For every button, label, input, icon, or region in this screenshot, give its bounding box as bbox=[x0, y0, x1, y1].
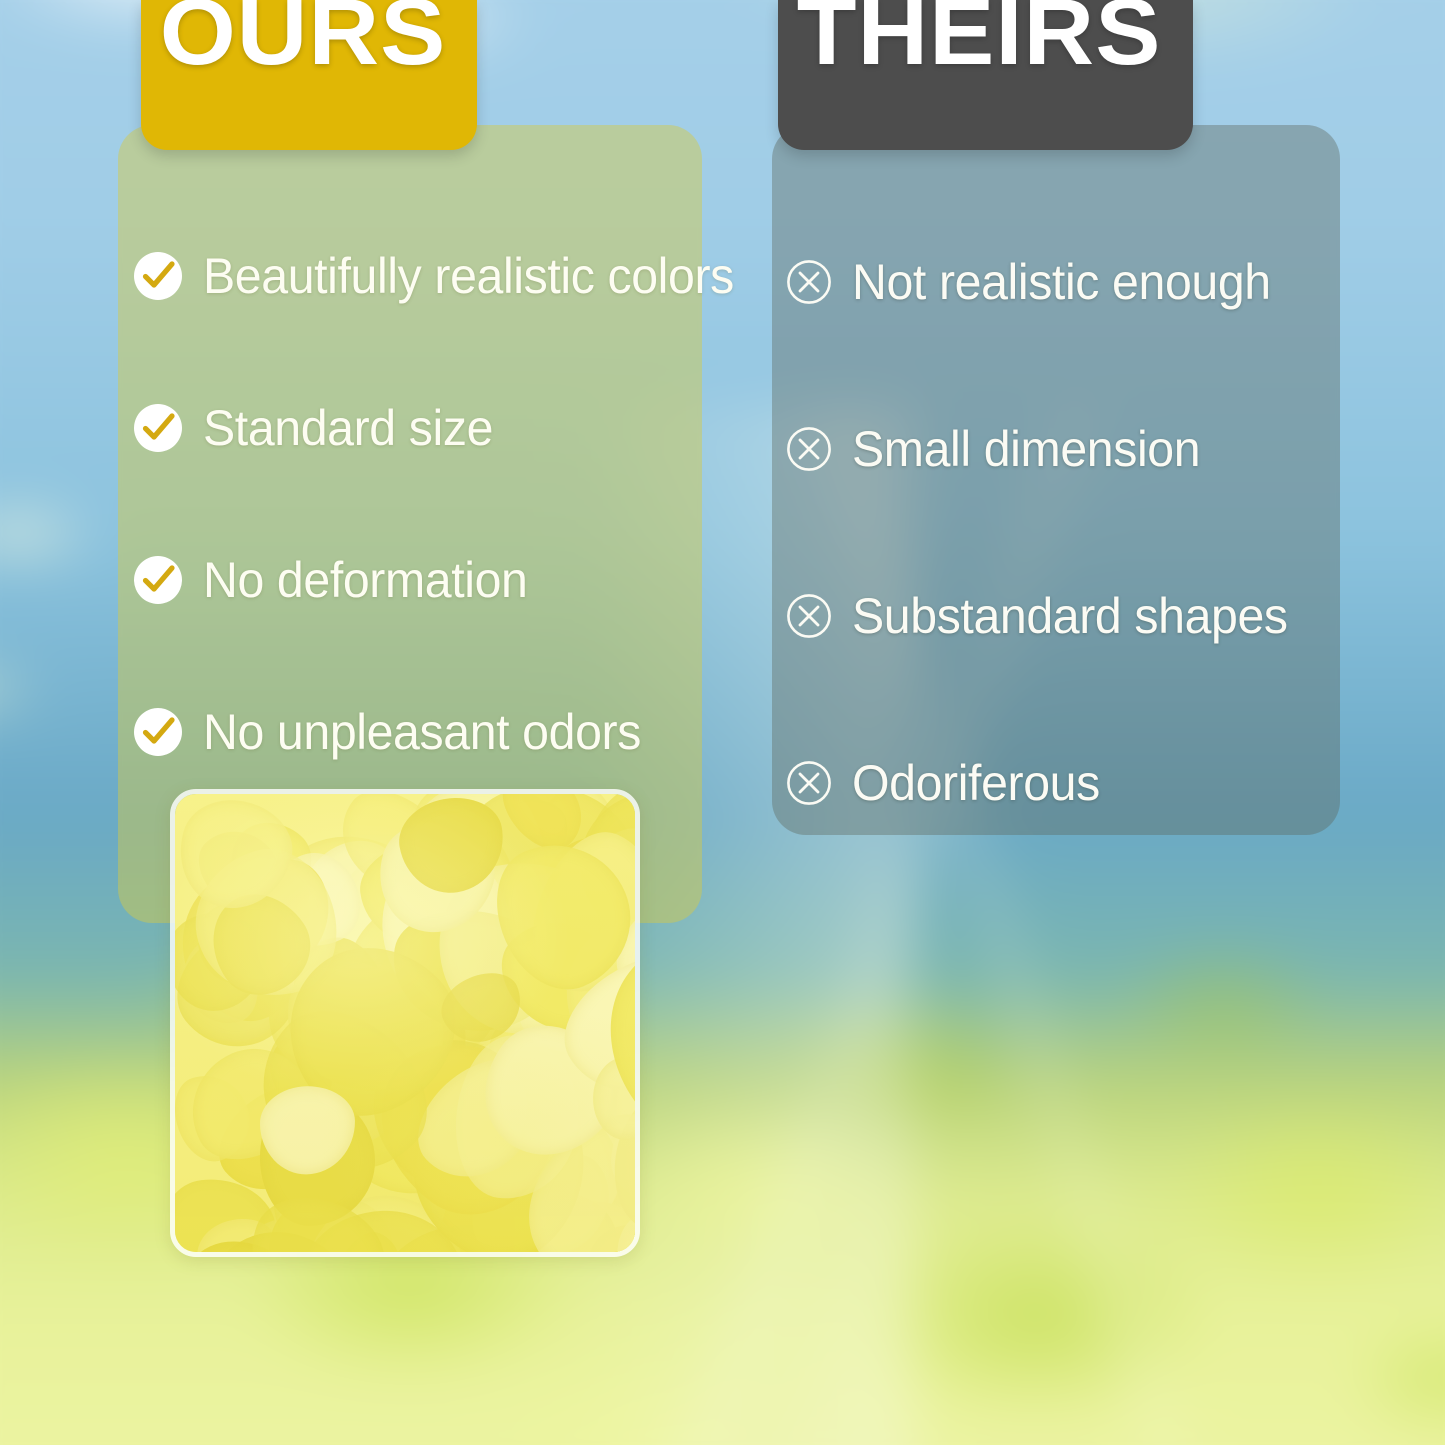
list-item: Odoriferous bbox=[786, 699, 1356, 866]
product-photo-inset bbox=[170, 789, 640, 1257]
list-item: Small dimension bbox=[786, 365, 1356, 532]
theirs-header-tab: THEIRS bbox=[778, 0, 1193, 150]
check-circle-icon bbox=[133, 403, 183, 453]
list-item: No unpleasant odors bbox=[133, 656, 773, 808]
x-circle-outline-icon bbox=[786, 426, 832, 472]
list-item-label: No deformation bbox=[203, 553, 527, 607]
list-item-label: Not realistic enough bbox=[852, 255, 1271, 309]
check-circle-icon bbox=[133, 707, 183, 757]
list-item-label: No unpleasant odors bbox=[203, 705, 641, 759]
theirs-header-label: THEIRS bbox=[778, 0, 1180, 76]
ours-header-tab: OURS bbox=[141, 0, 477, 150]
list-item-label: Odoriferous bbox=[852, 756, 1100, 810]
list-item: Not realistic enough bbox=[786, 198, 1356, 365]
list-item-label: Standard size bbox=[203, 401, 493, 455]
list-item-label: Substandard shapes bbox=[852, 589, 1288, 643]
check-circle-icon bbox=[133, 555, 183, 605]
ours-feature-list: Beautifully realistic colors Standard si… bbox=[133, 200, 773, 808]
list-item: Beautifully realistic colors bbox=[133, 200, 773, 352]
theirs-feature-list: Not realistic enough Small dimension Sub… bbox=[786, 198, 1356, 866]
check-circle-icon bbox=[133, 251, 183, 301]
list-item: Substandard shapes bbox=[786, 532, 1356, 699]
x-circle-outline-icon bbox=[786, 259, 832, 305]
list-item-label: Beautifully realistic colors bbox=[203, 249, 734, 303]
list-item: No deformation bbox=[133, 504, 773, 656]
x-circle-outline-icon bbox=[786, 593, 832, 639]
petal-sheen-overlay bbox=[175, 794, 635, 1252]
ours-header-label: OURS bbox=[141, 0, 465, 76]
list-item-label: Small dimension bbox=[852, 422, 1200, 476]
x-circle-outline-icon bbox=[786, 760, 832, 806]
list-item: Standard size bbox=[133, 352, 773, 504]
